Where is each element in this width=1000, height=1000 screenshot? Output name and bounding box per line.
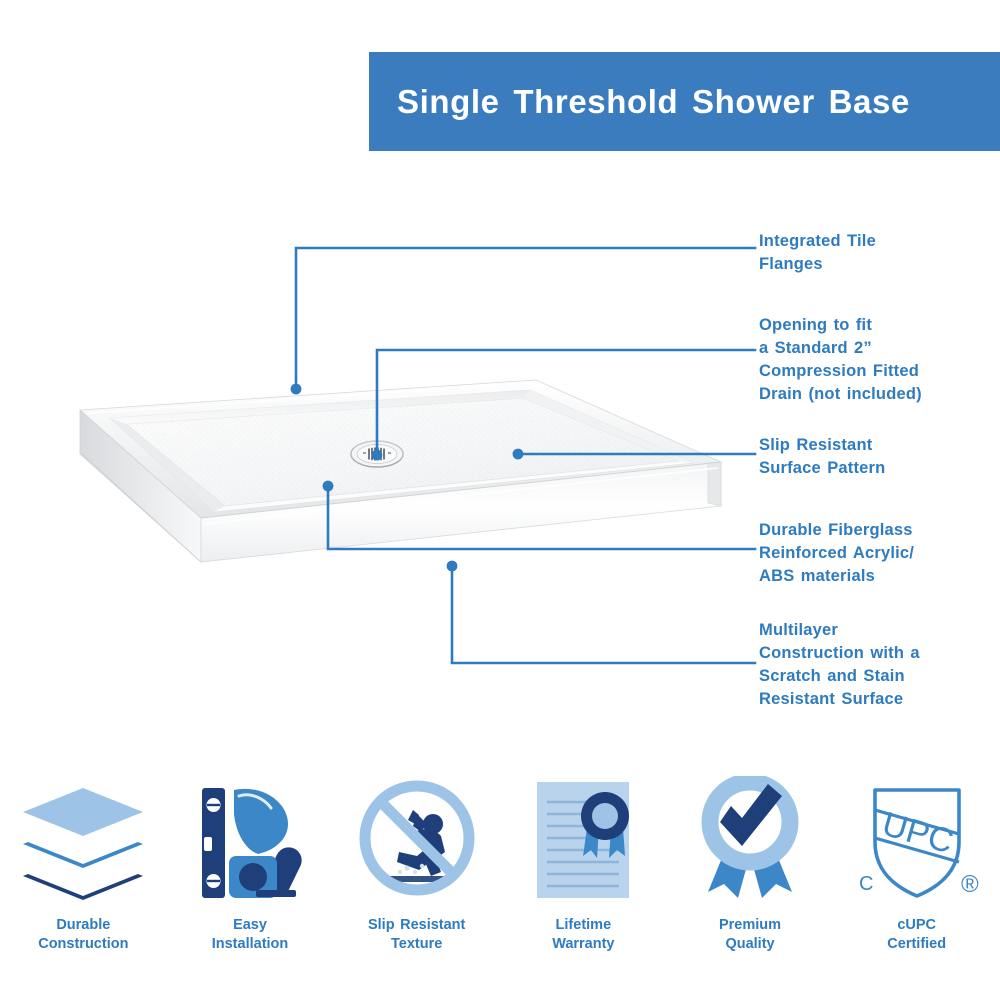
drain-grate (351, 441, 403, 467)
no-slip-icon (355, 775, 479, 900)
feature-premium-quality: Premium Quality (667, 775, 834, 975)
cupc-main-text: UPC (878, 805, 957, 861)
tools-icon (184, 775, 316, 900)
callout-multilayer-construction: Multilayer Construction with a Scratch a… (759, 619, 920, 711)
callout-durable-materials: Durable Fiberglass Reinforced Acrylic/ A… (759, 519, 914, 588)
title-banner: Single Threshold Shower Base (369, 52, 1000, 151)
feature-caption: cUPC Certified (887, 916, 946, 954)
feature-caption: Durable Construction (38, 916, 128, 954)
callout-slip-resistant-surface: Slip Resistant Surface Pattern (759, 434, 885, 480)
feature-durable-construction: Durable Construction (0, 775, 167, 975)
award-check-icon (690, 775, 810, 900)
feature-lifetime-warranty: Lifetime Warranty (500, 775, 667, 975)
feature-caption: Lifetime Warranty (552, 916, 614, 954)
feature-slip-resistant: Slip Resistant Texture (333, 775, 500, 975)
cupc-right-mark: ® (961, 871, 979, 898)
callout-drain-opening: Opening to fit a Standard 2” Compression… (759, 314, 922, 406)
infographic-page: Single Threshold Shower Base (0, 0, 1000, 1000)
feature-icon-row: Durable Construction (0, 775, 1000, 975)
feature-cupc-certified: UPC C ® cUPC Certified (833, 775, 1000, 975)
certificate-icon (525, 775, 641, 900)
cupc-shield-icon: UPC C ® (849, 775, 985, 900)
callout-integrated-tile-flanges: Integrated Tile Flanges (759, 230, 876, 276)
shower-base-illustration (18, 366, 738, 598)
page-title: Single Threshold Shower Base (369, 83, 910, 121)
cupc-left-mark: C (859, 873, 873, 895)
feature-caption: Slip Resistant Texture (368, 916, 465, 954)
feature-caption: Easy Installation (212, 916, 289, 954)
feature-caption: Premium Quality (719, 916, 781, 954)
stacked-layers-icon (17, 775, 149, 900)
feature-easy-installation: Easy Installation (167, 775, 334, 975)
